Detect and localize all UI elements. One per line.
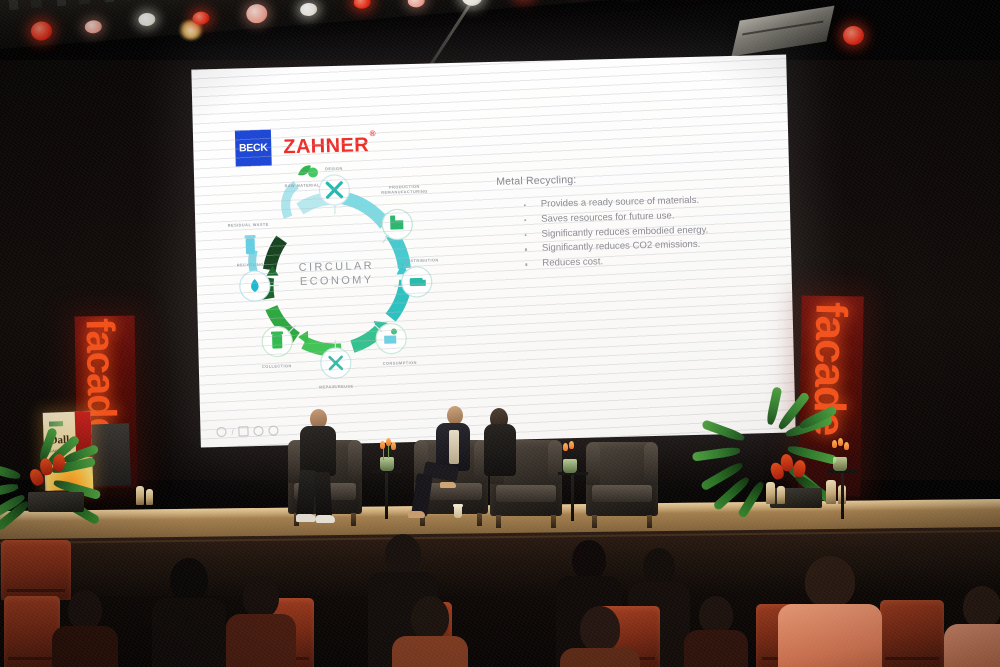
- audience-head: [643, 548, 675, 586]
- audience-head: [699, 596, 733, 634]
- pointer-icon[interactable]: [216, 427, 226, 437]
- truss-lamp-red: [30, 21, 52, 42]
- circular-economy-diagram: CIRCULAR ECONOMY RAW MATERIAL DESIGN PRO…: [224, 161, 450, 396]
- armchair-center-leg-2: [477, 513, 482, 526]
- more-options-icon[interactable]: [269, 425, 279, 435]
- truss-lamp-pink: [246, 3, 268, 24]
- panelist-center-shoe-1: [408, 511, 425, 518]
- armchair-empty-seat: [592, 485, 652, 502]
- tulip-vase-right: [833, 457, 847, 471]
- audience-chair: [880, 600, 944, 667]
- tulip-left-3: [391, 442, 396, 450]
- panelist-left-shoe-2: [316, 515, 335, 523]
- diagram-center-line2: ECONOMY: [283, 273, 391, 290]
- audience-body: [778, 604, 882, 667]
- audience-body: [944, 624, 1000, 667]
- panelist-left-leg-2: [314, 472, 332, 519]
- tulip-right-3: [844, 442, 849, 450]
- panelist-center-shoe-2: [440, 482, 456, 488]
- truss-lamp-white: [461, 0, 483, 7]
- truss-lamp-pink: [407, 0, 425, 8]
- trademark-symbol: ®: [370, 129, 377, 138]
- audience-chair-rail: [7, 589, 66, 592]
- stage-planter-left: [28, 492, 84, 512]
- armchair-left-leg-2: [351, 513, 356, 526]
- audience-chair: [1, 540, 71, 600]
- side-table-left-leg: [385, 473, 388, 519]
- audience-body: [52, 626, 118, 667]
- truss-lamp-white: [138, 12, 156, 26]
- slide-bullet-list: Provides a ready source of materials.Sav…: [497, 193, 757, 271]
- diagram-label-residual-waste: RESIDUAL WASTE: [227, 222, 269, 228]
- tulip-stem-l1: [383, 448, 384, 460]
- panelist-center-shirt: [449, 430, 459, 464]
- slide-grid-icon[interactable]: [239, 426, 249, 436]
- armchair-right-seat: [496, 485, 556, 502]
- slide-bullet-4: Reduces cost.: [542, 252, 756, 270]
- zahner-wordmark-text: ZAHNER: [283, 134, 369, 158]
- audience-body: [226, 614, 296, 667]
- audience-head: [572, 540, 606, 580]
- decorative-figurine-e: [136, 486, 144, 505]
- tulip-center-2: [569, 441, 574, 449]
- toolbar-separator: /: [231, 427, 233, 436]
- diagram-label-production: PRODUCTION REMANUFACTURING: [374, 183, 434, 195]
- audience-head: [411, 596, 449, 640]
- audience-body: [560, 648, 640, 667]
- decorative-figurine-a: [766, 482, 775, 504]
- armchair-right-leg-1: [496, 515, 501, 528]
- audience-head: [170, 558, 208, 602]
- tulip-stem-l2: [388, 446, 389, 458]
- decorative-figurine-f: [146, 489, 153, 505]
- audience-head: [68, 590, 102, 630]
- truss-lamp-red: [843, 26, 864, 45]
- presenter-toolbar[interactable]: /: [216, 425, 278, 437]
- panelist-left-shoe-1: [296, 514, 316, 522]
- side-table-center-leg: [571, 475, 574, 521]
- armchair-empty-leg-2: [647, 515, 652, 528]
- diagram-label-design: DESIGN: [316, 166, 352, 172]
- tulip-left-1: [380, 441, 385, 449]
- truss-lamp-red: [353, 0, 371, 9]
- audience-chair-rail: [8, 657, 55, 660]
- audience-head: [243, 576, 279, 618]
- decorative-figurine-b: [777, 486, 785, 504]
- coffee-cup: [454, 506, 462, 518]
- audience-chair-rail: [885, 657, 939, 660]
- zoom-icon[interactable]: [254, 426, 264, 436]
- truss-lamp-pink: [84, 20, 102, 34]
- sign-logo-mark: [49, 421, 63, 426]
- tulip-right-2: [838, 438, 843, 446]
- armchair-empty-wing-r: [644, 442, 658, 485]
- armchair-empty-wing-l: [586, 442, 600, 485]
- armchair-empty: [586, 442, 658, 516]
- slide-copy-heading: Metal Recycling:: [496, 169, 754, 188]
- tulip-right-1: [832, 440, 837, 448]
- beck-logo-text: BECK: [239, 142, 268, 155]
- audience-body: [684, 630, 748, 667]
- zahner-wordmark: ZAHNER®: [283, 133, 376, 158]
- panelist-left-torso: [300, 426, 336, 476]
- diagram-center-title: CIRCULAR ECONOMY: [282, 259, 391, 290]
- slide-logo: BECK ZAHNER®: [235, 127, 376, 167]
- side-table-right-leg: [841, 473, 844, 519]
- truss-lamp-red: [192, 11, 210, 25]
- audience-body: [152, 598, 226, 667]
- decorative-figurine-c: [826, 480, 836, 504]
- slide-copy-block: Metal Recycling: Provides a ready source…: [496, 169, 756, 273]
- armchair-right-wing-r: [548, 440, 562, 484]
- projection-screen: BECK ZAHNER®: [191, 55, 795, 448]
- panelist-right-torso: [484, 424, 516, 476]
- audience-body: [392, 636, 468, 667]
- audience-head: [805, 556, 855, 608]
- armchair-left-wing-r: [348, 440, 362, 483]
- tulip-center-1: [563, 443, 568, 451]
- conference-stage-photo: BECK ZAHNER®: [0, 0, 1000, 667]
- audience-head: [963, 586, 1000, 628]
- armchair-right-leg-2: [551, 515, 556, 528]
- slide-surface: BECK ZAHNER®: [191, 55, 795, 448]
- armchair-empty-leg-1: [592, 515, 597, 528]
- audience-head: [580, 606, 620, 652]
- truss-lamp-white: [300, 2, 318, 16]
- audience-head: [385, 534, 421, 576]
- tulip-vase-center: [563, 459, 577, 473]
- beck-logo-mark: BECK: [235, 130, 272, 167]
